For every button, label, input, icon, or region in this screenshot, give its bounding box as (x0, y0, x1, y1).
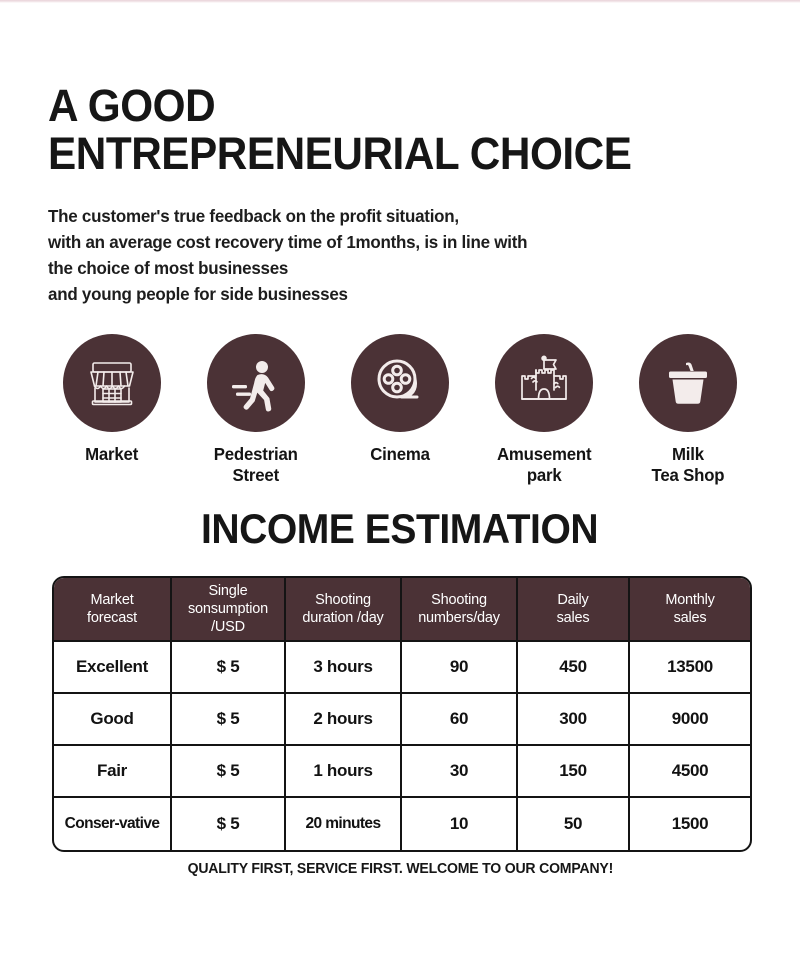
cell-shooting-duration: 3 hours (286, 642, 402, 694)
cell-market-forecast: Excellent (54, 642, 172, 694)
venue-label: Amusement park (497, 444, 591, 486)
market-storefront-icon (63, 334, 161, 432)
venue-label: Pedestrian Street (214, 444, 298, 486)
cell-monthly-sales: 13500 (630, 642, 750, 694)
cell-market-forecast: Good (54, 694, 172, 746)
column-header-shooting-numbers: Shooting numbers/day (402, 578, 518, 642)
cell-single-consumption: $ 5 (172, 642, 286, 694)
section-title: INCOME ESTIMATION (0, 505, 800, 553)
table-header: Market forecast Single sonsumption /USD … (54, 578, 750, 642)
table-header-row: Market forecast Single sonsumption /USD … (54, 578, 750, 642)
cell-shooting-duration: 1 hours (286, 746, 402, 798)
section-title-text: INCOME ESTIMATION (201, 505, 598, 553)
page-title: A GOOD ENTREPRENEURIAL CHOICE (48, 82, 710, 178)
pedestrian-walking-icon (207, 334, 305, 432)
cell-shooting-numbers: 30 (402, 746, 518, 798)
venue-item-market[interactable]: Market (40, 334, 184, 465)
column-header-single-consumption: Single sonsumption /USD (172, 578, 286, 642)
income-estimation-table-wrap: Market forecast Single sonsumption /USD … (52, 576, 748, 852)
venue-label: Market (85, 444, 138, 465)
column-header-monthly-sales: Monthly sales (630, 578, 750, 642)
table-body: Excellent $ 5 3 hours 90 450 13500 Good … (54, 642, 750, 850)
cell-shooting-numbers: 90 (402, 642, 518, 694)
sandcastle-icon (495, 334, 593, 432)
hero-block: A GOOD ENTREPRENEURIAL CHOICE (48, 82, 752, 178)
venue-icon-row: Market Pedestrian Street (40, 334, 760, 486)
cell-monthly-sales: 4500 (630, 746, 750, 798)
cell-daily-sales: 150 (518, 746, 630, 798)
cell-shooting-numbers: 60 (402, 694, 518, 746)
table-row: Good $ 5 2 hours 60 300 9000 (54, 694, 750, 746)
column-header-market-forecast: Market forecast (54, 578, 172, 642)
venue-label: Milk Tea Shop (652, 444, 725, 486)
table-row: Excellent $ 5 3 hours 90 450 13500 (54, 642, 750, 694)
poster-page: A GOOD ENTREPRENEURIAL CHOICE The custom… (0, 0, 800, 967)
cell-daily-sales: 300 (518, 694, 630, 746)
cell-market-forecast: Conser-vative (54, 798, 172, 850)
venue-item-cinema[interactable]: Cinema (328, 334, 472, 465)
cell-single-consumption: $ 5 (172, 798, 286, 850)
table-row: Fair $ 5 1 hours 30 150 4500 (54, 746, 750, 798)
cell-shooting-duration: 20 minutes (286, 798, 402, 850)
milk-tea-cup-icon (639, 334, 737, 432)
cell-single-consumption: $ 5 (172, 694, 286, 746)
top-edge-hairline (0, 0, 800, 3)
cell-daily-sales: 50 (518, 798, 630, 850)
cell-market-forecast: Fair (54, 746, 172, 798)
column-header-shooting-duration: Shooting duration /day (286, 578, 402, 642)
income-estimation-table: Market forecast Single sonsumption /USD … (52, 576, 752, 852)
cell-monthly-sales: 1500 (630, 798, 750, 850)
venue-item-milk-tea-shop[interactable]: Milk Tea Shop (616, 334, 760, 486)
hero-subtitle: The customer's true feedback on the prof… (48, 203, 727, 307)
cell-daily-sales: 450 (518, 642, 630, 694)
cell-shooting-duration: 2 hours (286, 694, 402, 746)
table-row: Conser-vative $ 5 20 minutes 10 50 1500 (54, 798, 750, 850)
venue-item-pedestrian-street[interactable]: Pedestrian Street (184, 334, 328, 486)
cell-shooting-numbers: 10 (402, 798, 518, 850)
cell-monthly-sales: 9000 (630, 694, 750, 746)
film-reel-icon (351, 334, 449, 432)
venue-label: Cinema (370, 444, 430, 465)
footer-note-text: QUALITY FIRST, SERVICE FIRST. WELCOME TO… (187, 861, 613, 877)
venue-item-amusement-park[interactable]: Amusement park (472, 334, 616, 486)
cell-single-consumption: $ 5 (172, 746, 286, 798)
footer-note: QUALITY FIRST, SERVICE FIRST. WELCOME TO… (0, 861, 800, 877)
column-header-daily-sales: Daily sales (518, 578, 630, 642)
